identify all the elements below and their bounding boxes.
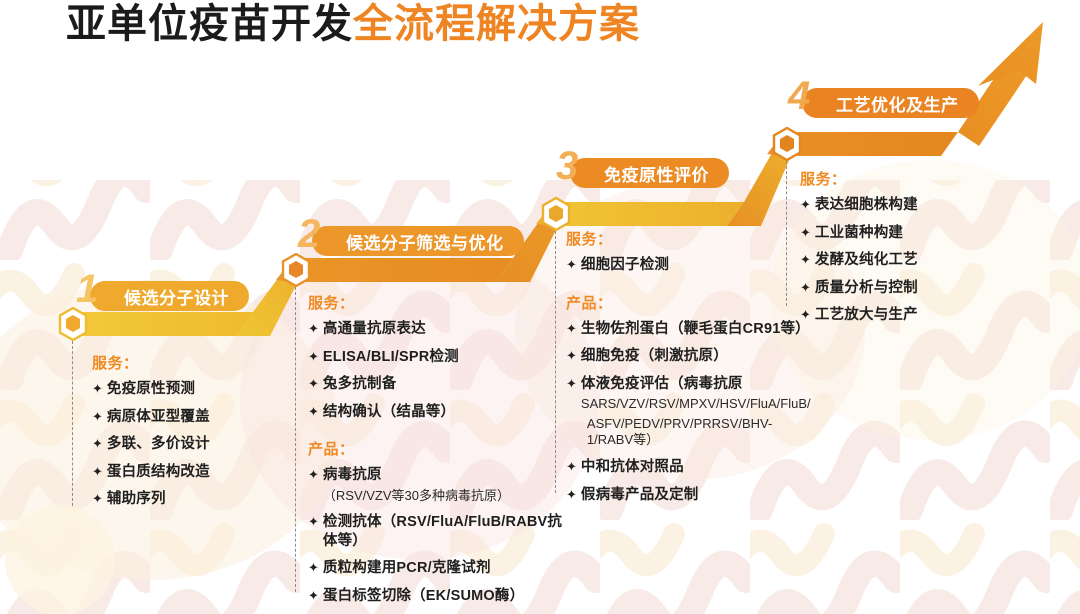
bullet-diamond-icon: ✦	[566, 320, 577, 338]
list-item-subtext: SARS/VZV/RSV/MPXV/HSV/FluA/FluB/	[581, 396, 816, 413]
step-content-4: 服务：✦表达细胞株构建✦工业菌种构建✦发酵及纯化工艺✦质量分析与控制✦工艺放大与…	[800, 168, 1020, 334]
bullet-diamond-icon: ✦	[308, 559, 319, 577]
list-item-label: 细胞免疫（刺激抗原）	[581, 347, 728, 366]
list-item: ✦辅助序列	[92, 490, 292, 509]
list-item-label: 结构确认（结晶等）	[323, 403, 455, 422]
step-label-1: 候选分子设计	[124, 284, 229, 309]
bullet-diamond-icon: ✦	[308, 587, 319, 605]
list-item-label: ELISA/BLI/SPR检测	[323, 348, 459, 367]
list-item: ✦蛋白质结构改造	[92, 463, 292, 482]
step-content-3: 服务：✦细胞因子检测产品：✦生物佐剂蛋白（鞭毛蛋白CR91等）✦细胞免疫（刺激抗…	[566, 228, 816, 513]
list-item: ✦质量分析与控制	[800, 279, 1020, 298]
step-content-2: 服务：✦高通量抗原表达✦ELISA/BLI/SPR检测✦兔多抗制备✦结构确认（结…	[308, 292, 568, 614]
list-item: ✦结构确认（结晶等）	[308, 403, 568, 422]
list-item: ✦ELISA/BLI/SPR检测	[308, 348, 568, 367]
section-heading: 服务：	[308, 292, 568, 313]
list-item: ✦检测抗体（RSV/FluA/FluB/RABV抗体等）	[308, 513, 568, 550]
list-item-label: 中和抗体对照品	[581, 458, 684, 477]
step-number-2: 2	[298, 214, 321, 254]
list-item: ✦细胞因子检测	[566, 256, 816, 275]
step-node-hexagon-1	[58, 307, 88, 341]
step-pill-2[interactable]: 2 候选分子筛选与优化	[312, 226, 524, 256]
bullet-diamond-icon: ✦	[566, 256, 577, 274]
list-item-label: 质粒构建用PCR/克隆试剂	[323, 559, 491, 578]
list-item-label: 工业菌种构建	[815, 224, 903, 243]
list-item: ✦表达细胞株构建	[800, 196, 1020, 215]
list-item-label: 蛋白标签切除（EK/SUMO酶）	[323, 587, 524, 606]
list-item: ✦蛋白标签切除（EK/SUMO酶）	[308, 587, 568, 606]
bullet-diamond-icon: ✦	[92, 408, 103, 426]
step-node-hexagon-4	[772, 127, 802, 161]
bullet-diamond-icon: ✦	[308, 403, 319, 421]
list-item-label: 检测抗体（RSV/FluA/FluB/RABV抗体等）	[323, 513, 568, 550]
list-item-label: 兔多抗制备	[323, 375, 397, 394]
list-item: ✦细胞免疫（刺激抗原）	[566, 347, 816, 366]
bullet-diamond-icon: ✦	[92, 380, 103, 398]
list-item: ✦免疫原性预测	[92, 380, 292, 399]
step-pill-1[interactable]: 1 候选分子设计	[90, 281, 249, 311]
bullet-diamond-icon: ✦	[800, 306, 811, 324]
list-item-label: 生物佐剂蛋白（鞭毛蛋白CR91等）	[581, 320, 810, 339]
list-item: ✦生物佐剂蛋白（鞭毛蛋白CR91等）	[566, 320, 816, 339]
bullet-diamond-icon: ✦	[566, 347, 577, 365]
list-item-label: 体液免疫评估（病毒抗原SARS/VZV/RSV/MPXV/HSV/FluA/Fl…	[581, 375, 816, 449]
section-heading: 服务：	[92, 352, 292, 373]
list-item-label: 免疫原性预测	[107, 380, 195, 399]
bullet-diamond-icon: ✦	[566, 375, 577, 393]
list-item-label: 工艺放大与生产	[815, 306, 918, 325]
list-item-subtext: ASFV/PEDV/PRV/PRRSV/BHV-1/RABV等）	[581, 416, 816, 449]
divider-dashed-1	[72, 341, 73, 506]
list-item-label: 假病毒产品及定制	[581, 486, 699, 505]
list-item: ✦中和抗体对照品	[566, 458, 816, 477]
step-number-4: 4	[788, 76, 811, 116]
step-label-3: 免疫原性评价	[604, 161, 709, 186]
list-item: ✦病毒抗原（RSV/VZV等30多种病毒抗原）	[308, 466, 568, 504]
list-item-label: 病毒抗原（RSV/VZV等30多种病毒抗原）	[323, 466, 510, 504]
section-heading: 服务：	[566, 228, 816, 249]
list-item-label: 蛋白质结构改造	[107, 463, 210, 482]
step-content-1: 服务：✦免疫原性预测✦病原体亚型覆盖✦多联、多价设计✦蛋白质结构改造✦辅助序列	[92, 352, 292, 518]
bullet-diamond-icon: ✦	[566, 458, 577, 476]
list-item: ✦兔多抗制备	[308, 375, 568, 394]
bullet-diamond-icon: ✦	[92, 490, 103, 508]
title-primary: 亚单位疫苗开发	[66, 2, 353, 46]
bullet-diamond-icon: ✦	[308, 466, 319, 484]
list-item-label: 病原体亚型覆盖	[107, 408, 210, 427]
infographic-poster: 亚单位疫苗开发全流程解决方案	[0, 0, 1080, 614]
page-title: 亚单位疫苗开发全流程解决方案	[66, 4, 640, 44]
list-item: ✦高通量抗原表达	[308, 320, 568, 339]
step-label-2: 候选分子筛选与优化	[346, 229, 504, 254]
list-item-label: 多联、多价设计	[107, 435, 210, 454]
step-number-3: 3	[556, 146, 579, 186]
list-item: ✦病原体亚型覆盖	[92, 408, 292, 427]
bullet-diamond-icon: ✦	[308, 320, 319, 338]
list-item-label: 高通量抗原表达	[323, 320, 426, 339]
list-item: ✦质粒构建用PCR/克隆试剂	[308, 559, 568, 578]
list-item: ✦发酵及纯化工艺	[800, 251, 1020, 270]
list-item-label: 发酵及纯化工艺	[815, 251, 918, 270]
bullet-diamond-icon: ✦	[800, 279, 811, 297]
section-heading: 产品：	[566, 292, 816, 313]
step-number-1: 1	[76, 269, 99, 309]
bullet-diamond-icon: ✦	[308, 513, 319, 531]
bullet-diamond-icon: ✦	[566, 486, 577, 504]
divider-dashed-2	[295, 287, 296, 592]
step-node-hexagon-3	[541, 197, 571, 231]
list-item-label: 辅助序列	[107, 490, 166, 509]
list-item: ✦工业菌种构建	[800, 224, 1020, 243]
bullet-diamond-icon: ✦	[92, 435, 103, 453]
list-item: ✦多联、多价设计	[92, 435, 292, 454]
list-item: ✦假病毒产品及定制	[566, 486, 816, 505]
bullet-diamond-icon: ✦	[800, 251, 811, 269]
step-pill-4[interactable]: 4 工艺优化及生产	[802, 88, 979, 118]
list-item: ✦体液免疫评估（病毒抗原SARS/VZV/RSV/MPXV/HSV/FluA/F…	[566, 375, 816, 449]
list-item-label: 表达细胞株构建	[815, 196, 918, 215]
bullet-diamond-icon: ✦	[800, 196, 811, 214]
section-heading: 产品：	[308, 438, 568, 459]
step-node-hexagon-2	[281, 253, 311, 287]
step-pill-3[interactable]: 3 免疫原性评价	[570, 158, 729, 188]
step-label-4: 工艺优化及生产	[836, 91, 959, 116]
title-accent: 全流程解决方案	[353, 2, 640, 46]
bullet-diamond-icon: ✦	[92, 463, 103, 481]
bullet-diamond-icon: ✦	[308, 375, 319, 393]
list-item-label: 质量分析与控制	[815, 279, 918, 298]
list-item-subtext: （RSV/VZV等30多种病毒抗原）	[323, 488, 510, 505]
bullet-diamond-icon: ✦	[308, 348, 319, 366]
bullet-diamond-icon: ✦	[800, 224, 811, 242]
list-item: ✦工艺放大与生产	[800, 306, 1020, 325]
list-item-label: 细胞因子检测	[581, 256, 669, 275]
section-heading: 服务：	[800, 168, 1020, 189]
